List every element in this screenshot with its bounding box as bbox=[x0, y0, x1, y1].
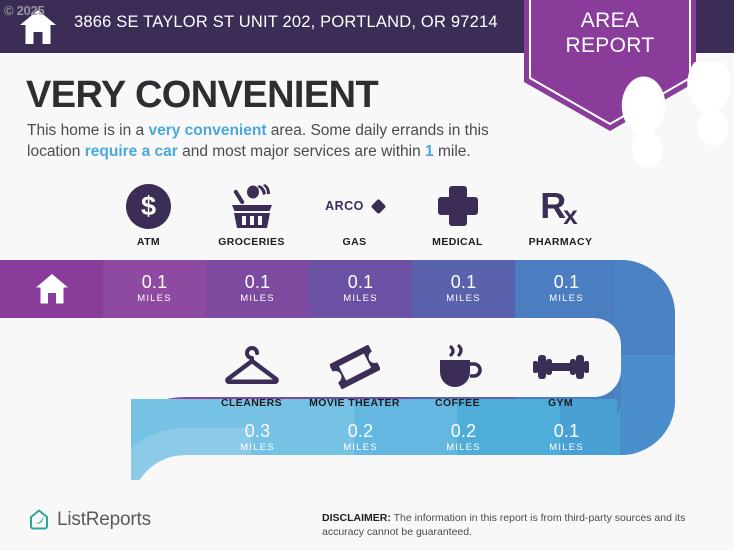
dollar-sign: $ bbox=[126, 184, 171, 229]
distance-unit: MILES bbox=[103, 292, 206, 305]
distance-groceries: 0.1 MILES bbox=[206, 273, 309, 305]
category-label-movie-theater: MOVIE THEATER bbox=[303, 397, 406, 409]
category-atm: $ ATM bbox=[97, 182, 200, 248]
distance-value: 0.3 bbox=[206, 422, 309, 441]
distance-atm: 0.1 MILES bbox=[103, 273, 206, 305]
area-report-badge: AREA REPORT bbox=[524, 0, 696, 131]
home-icon bbox=[35, 273, 69, 305]
shopping-basket-icon bbox=[200, 182, 303, 230]
area-report-page: 3866 SE TAYLOR ST UNIT 202, PORTLAND, OR… bbox=[0, 0, 734, 551]
summary-text-part-3: and most major services are within bbox=[178, 143, 425, 160]
badge-line-1: AREA bbox=[524, 8, 696, 33]
clothes-hanger-icon bbox=[200, 343, 303, 391]
category-medical: MEDICAL bbox=[406, 182, 509, 248]
disclaimer: DISCLAIMER: The information in this repo… bbox=[322, 512, 714, 539]
movie-ticket-icon bbox=[303, 343, 406, 391]
summary-highlight-1: very convenient bbox=[148, 122, 266, 139]
coffee-cup-icon bbox=[406, 343, 509, 391]
property-address: 3866 SE TAYLOR ST UNIT 202, PORTLAND, OR… bbox=[74, 13, 498, 32]
category-label-groceries: GROCERIES bbox=[200, 236, 303, 248]
distance-unit: MILES bbox=[206, 441, 309, 454]
listreports-leaf-icon bbox=[28, 509, 50, 531]
category-label-gas: GAS bbox=[303, 236, 406, 248]
rx-text: Rx bbox=[540, 188, 580, 224]
summary-text-part-4: mile. bbox=[434, 143, 471, 160]
disclaimer-label: DISCLAIMER: bbox=[322, 512, 391, 524]
brand-logo: ListReports bbox=[28, 509, 151, 531]
copyright-watermark: © 2025 bbox=[4, 3, 44, 18]
distance-pharmacy: 0.1 MILES bbox=[515, 273, 618, 305]
distance-gas: 0.1 MILES bbox=[309, 273, 412, 305]
distance-value: 0.1 bbox=[103, 273, 206, 292]
distance-unit: MILES bbox=[309, 441, 412, 454]
category-coffee: COFFEE bbox=[406, 343, 509, 409]
distance-value: 0.2 bbox=[309, 422, 412, 441]
dumbbell-icon bbox=[509, 343, 612, 391]
category-label-medical: MEDICAL bbox=[406, 236, 509, 248]
distance-cleaners: 0.3 MILES bbox=[206, 422, 309, 454]
distance-unit: MILES bbox=[412, 292, 515, 305]
distance-value: 0.1 bbox=[309, 273, 412, 292]
category-label-gym: GYM bbox=[509, 397, 612, 409]
distance-unit: MILES bbox=[206, 292, 309, 305]
distance-unit: MILES bbox=[412, 441, 515, 454]
dollar-circle-icon: $ bbox=[97, 182, 200, 230]
summary-text: This home is in a very convenient area. … bbox=[27, 120, 527, 162]
distance-medical: 0.1 MILES bbox=[412, 273, 515, 305]
distance-value: 0.1 bbox=[412, 273, 515, 292]
category-label-pharmacy: PHARMACY bbox=[509, 236, 612, 248]
diamond-icon bbox=[371, 198, 387, 214]
distance-value: 0.1 bbox=[206, 273, 309, 292]
distance-movie-theater: 0.2 MILES bbox=[309, 422, 412, 454]
summary-text-part-1: This home is in a bbox=[27, 122, 148, 139]
arco-diamond-icon: ARCO bbox=[303, 182, 406, 230]
distance-value: 0.2 bbox=[412, 422, 515, 441]
gas-brand-label: ARCO bbox=[325, 199, 364, 213]
category-cleaners: CLEANERS bbox=[200, 343, 303, 409]
category-groceries: GROCERIES bbox=[200, 182, 303, 248]
medical-cross-icon bbox=[406, 182, 509, 230]
distance-unit: MILES bbox=[309, 292, 412, 305]
distance-coffee: 0.2 MILES bbox=[412, 422, 515, 454]
distance-value: 0.1 bbox=[515, 273, 618, 292]
category-gas: ARCO GAS bbox=[303, 182, 406, 248]
summary-highlight-3: 1 bbox=[425, 143, 434, 160]
rx-subscript: x bbox=[563, 200, 577, 230]
footprints-icon bbox=[594, 62, 734, 193]
summary-highlight-2: require a car bbox=[85, 143, 178, 160]
category-gym: GYM bbox=[509, 343, 612, 409]
category-label-coffee: COFFEE bbox=[406, 397, 509, 409]
brand-name: ListReports bbox=[57, 509, 151, 531]
badge-title: AREA REPORT bbox=[524, 8, 696, 58]
distance-value: 0.1 bbox=[515, 422, 618, 441]
distance-unit: MILES bbox=[515, 441, 618, 454]
category-label-cleaners: CLEANERS bbox=[200, 397, 303, 409]
page-title: VERY CONVENIENT bbox=[26, 74, 378, 117]
category-movie-theater: MOVIE THEATER bbox=[303, 343, 406, 409]
distance-unit: MILES bbox=[515, 292, 618, 305]
badge-line-2: REPORT bbox=[524, 33, 696, 58]
category-label-atm: ATM bbox=[97, 236, 200, 248]
distance-gym: 0.1 MILES bbox=[515, 422, 618, 454]
